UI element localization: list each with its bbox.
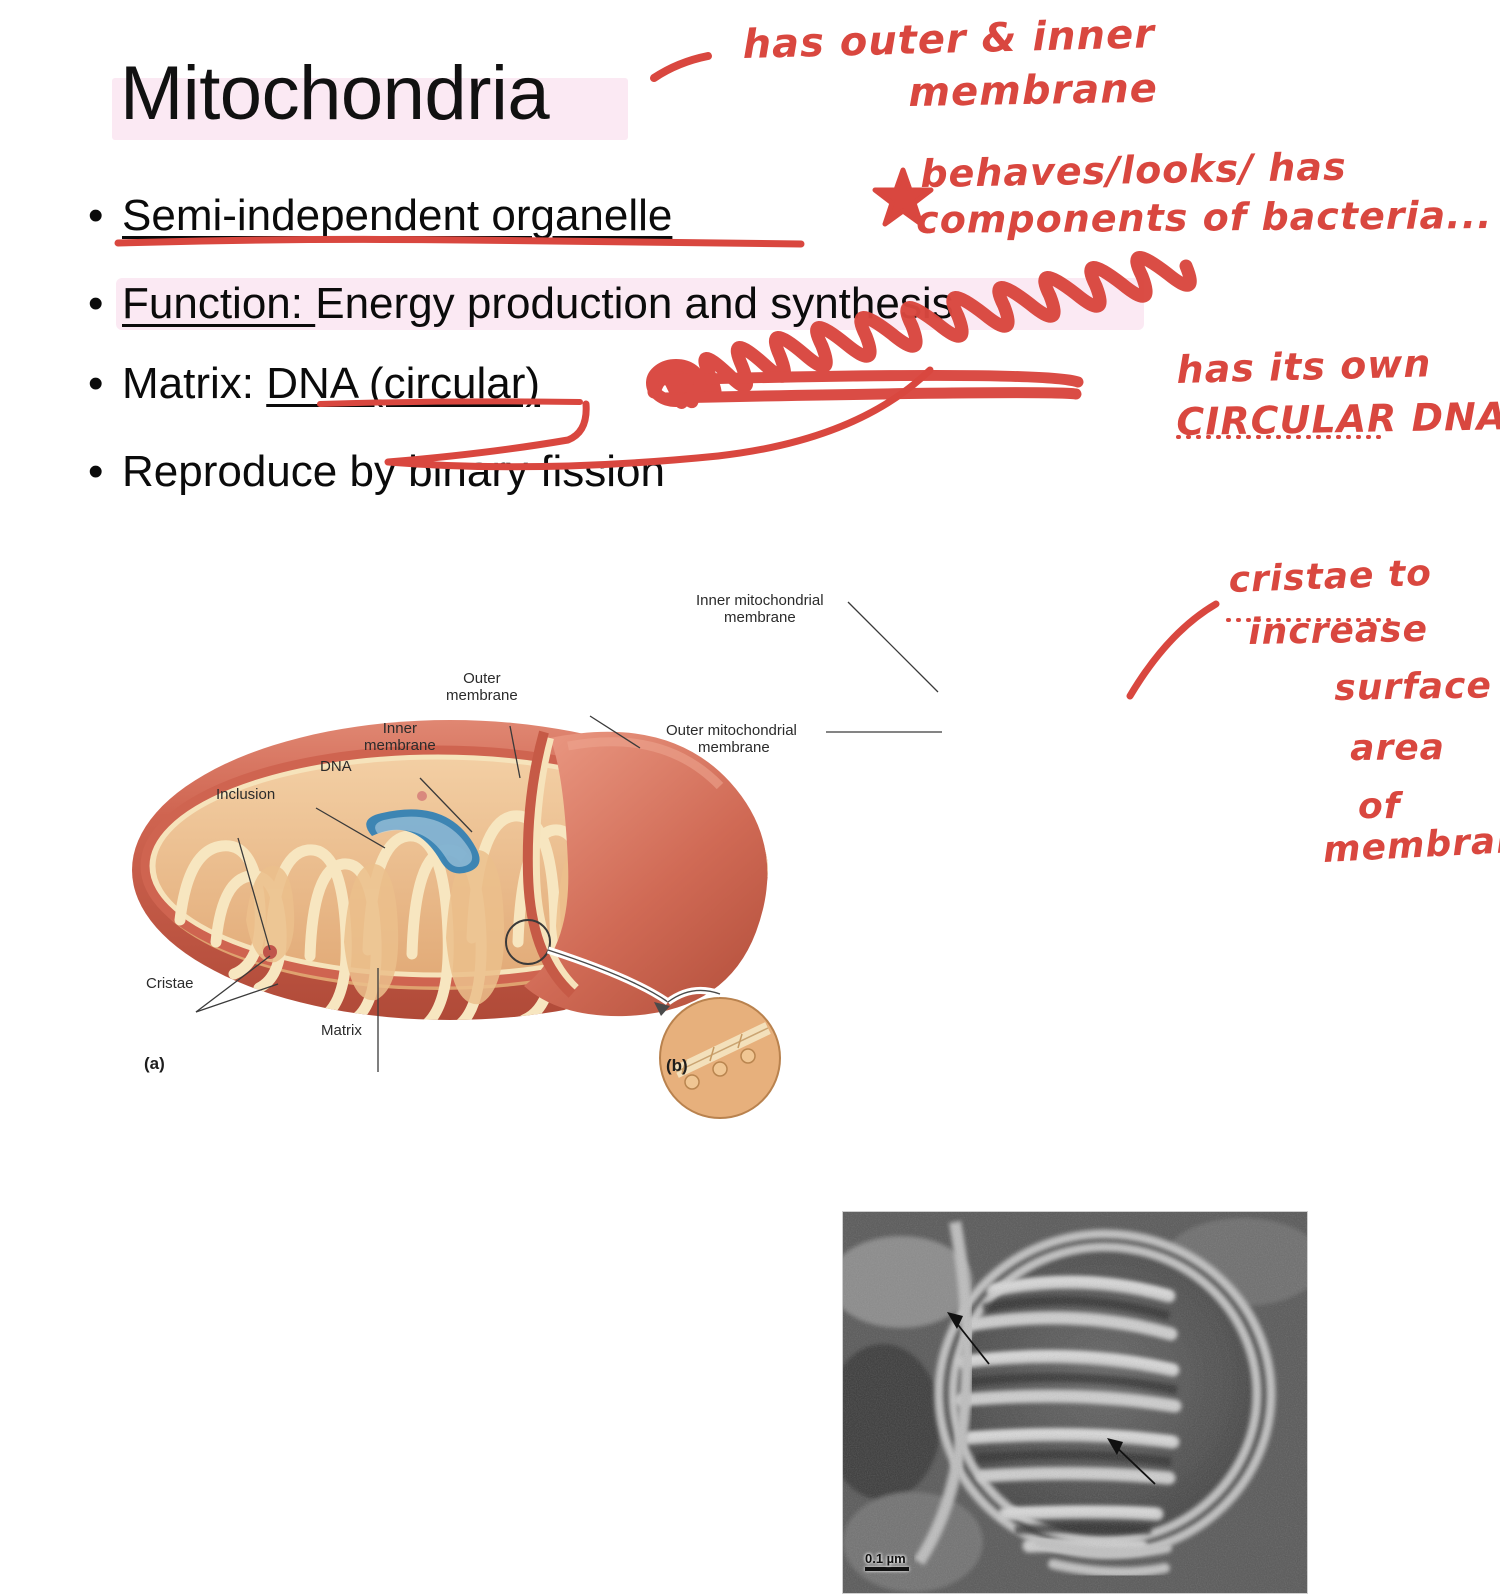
- annotation-4-line-1: cristae to: [1228, 553, 1433, 601]
- bullet-1-red-underline: [118, 239, 801, 244]
- bullet-item-3: •Matrix: DNA (circular): [88, 362, 540, 406]
- micrograph-arrows: [843, 1212, 1307, 1593]
- label-inner-membrane: Inner membrane: [364, 720, 436, 754]
- page-title: Mitochondria: [112, 52, 559, 138]
- annotation-4-line-4: area: [1350, 727, 1445, 769]
- label-inner-mitochondrial-membrane: Inner mitochondrial membrane: [696, 592, 824, 627]
- bullet-dot: •: [88, 450, 122, 494]
- bullet-item-2: •Function: Energy production and synthes…: [88, 282, 954, 326]
- title-leader-dash: [654, 56, 708, 78]
- bullet-3-lead: Matrix:: [122, 359, 266, 408]
- label-outer-mitochondrial-membrane: Outer mitochondrial membrane: [666, 722, 797, 757]
- bullet-2-text: Energy production and synthesis: [315, 279, 953, 328]
- panel-a-tag: (a): [144, 1054, 165, 1074]
- annotation-1-line-1: has outer & inner: [742, 11, 1155, 68]
- slide-canvas: Mitochondria •Semi-independent organelle…: [0, 0, 1500, 1130]
- bullet-dot: •: [88, 194, 122, 238]
- label-outer-membrane: Outer membrane: [446, 670, 518, 704]
- bullet-3-text: DNA (circular): [266, 359, 540, 408]
- scale-bar: 0.1 µm: [865, 1551, 909, 1571]
- bullet-item-1: •Semi-independent organelle: [88, 194, 672, 238]
- label-cristae: Cristae: [146, 975, 194, 992]
- electron-micrograph: 0.1 µm: [842, 1211, 1308, 1594]
- annotation-4-line-3: surface: [1334, 665, 1492, 709]
- panel-b-tag: (b): [666, 1056, 688, 1076]
- label-matrix: Matrix: [321, 1022, 362, 1039]
- scale-bar-label: 0.1 µm: [865, 1551, 909, 1566]
- annotation-2-line-2: components of bacteria...: [916, 193, 1493, 242]
- annotation-3-line-2: CIRCULAR DNA: [1176, 394, 1500, 444]
- annotation-2-line-1: behaves/looks/ has: [920, 145, 1347, 196]
- bullet-item-4: •Reproduce by binary fission: [88, 450, 665, 494]
- label-dna: DNA: [320, 758, 352, 775]
- bullet-4-text: Reproduce by binary fission: [122, 447, 665, 496]
- inclusion-granule: [263, 945, 277, 959]
- annotation-4-line-2: increase: [1248, 609, 1428, 653]
- label-inclusion: Inclusion: [216, 786, 275, 803]
- bullet-dot: •: [88, 362, 122, 406]
- bullet-dot: •: [88, 282, 122, 326]
- annotation-4-line-5: of: [1358, 786, 1400, 827]
- scale-bar-line: [865, 1567, 909, 1571]
- annotation-1-line-2: membrane: [908, 66, 1158, 116]
- bullet-1-text: Semi-independent organelle: [122, 191, 672, 240]
- bullet-2-lead: Function:: [122, 279, 315, 328]
- annotation-3-line-1: has its own: [1176, 341, 1432, 392]
